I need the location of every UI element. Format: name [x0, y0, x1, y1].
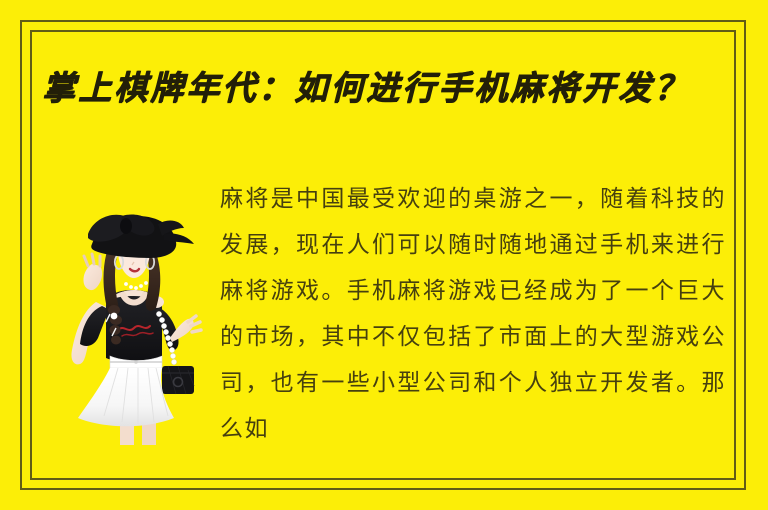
body-paragraph: 麻将是中国最受欢迎的桌游之一，随着科技的发展，现在人们可以随时随地通过手机来进行…	[220, 176, 726, 452]
sleeve-left	[80, 306, 110, 346]
black-hat	[88, 214, 194, 258]
hair-flower	[111, 313, 118, 320]
poster-canvas: 掌上棋牌年代：如何进行手机麻将开发？ 麻将是中国最受欢迎的桌游之一，随着科技的发…	[0, 0, 768, 510]
hat-bow-knot	[120, 218, 132, 234]
anime-woman-svg	[58, 210, 208, 445]
handbag	[162, 366, 194, 394]
illustration-anime-woman	[58, 210, 208, 445]
body-text-column: 麻将是中国最受欢迎的桌游之一，随着科技的发展，现在人们可以随时随地通过手机来进行…	[220, 176, 726, 468]
arm-right	[156, 308, 201, 350]
necklace	[124, 281, 148, 290]
white-skirt	[78, 356, 174, 426]
page-title: 掌上棋牌年代：如何进行手机麻将开发？	[42, 60, 732, 116]
